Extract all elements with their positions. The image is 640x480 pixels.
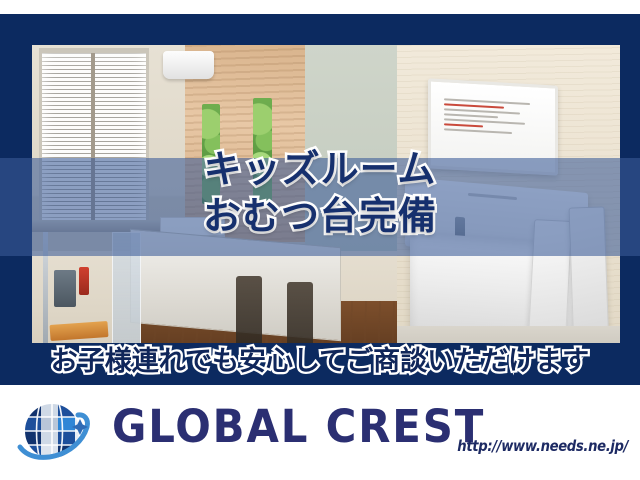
red-object (79, 267, 88, 295)
globe-icon (16, 397, 92, 467)
photo-collage (32, 45, 620, 357)
plant-panel-icon (202, 104, 221, 204)
tagline-text: お子様連れでも安心してご商談いただけます (51, 347, 589, 377)
footer: GLOBAL CREST http://www.needs.ne.jp/ (0, 385, 640, 480)
photo-banner-frame (0, 14, 640, 385)
chair (236, 276, 262, 351)
green-accent-wall (305, 45, 396, 251)
plant-panel-icon (253, 98, 272, 204)
instruction-sign (428, 79, 558, 177)
storage-box (54, 270, 76, 307)
banner-root: キッズルーム おむつ台完備 お子様連れでも安心してご商談いただけます (0, 0, 640, 480)
tagline-bar: お子様連れでも安心してご商談いただけます (0, 343, 640, 385)
brand-name: GLOBAL CREST (112, 402, 485, 452)
kids-room-photo (32, 45, 397, 357)
pole (43, 232, 48, 357)
glass-partition (112, 232, 141, 357)
diaper-changing-table-photo (397, 45, 620, 357)
website-url[interactable]: http://www.needs.ne.jp/ (457, 437, 628, 455)
top-white-strip (0, 0, 640, 14)
window-blinds (39, 48, 148, 223)
air-conditioner-icon (163, 51, 214, 79)
